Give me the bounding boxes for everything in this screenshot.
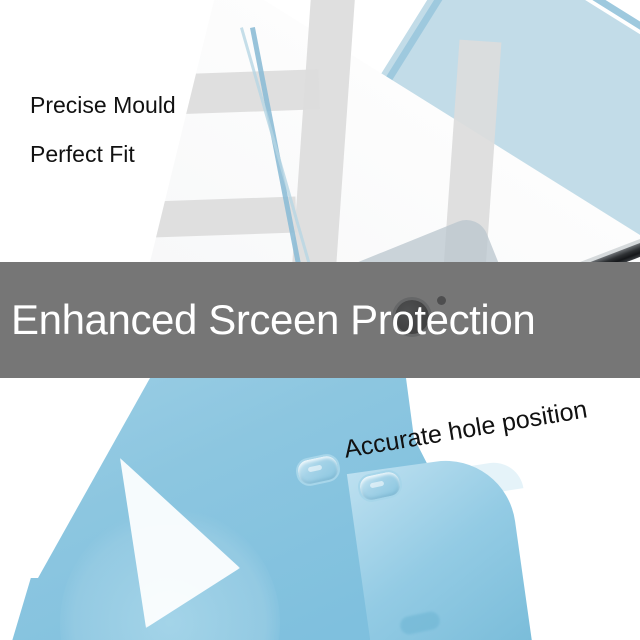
banner-headline: Enhanced Srceen Protection — [0, 299, 535, 341]
top-product-photo — [0, 0, 640, 262]
feature-banner: Enhanced Srceen Protection — [0, 262, 640, 378]
product-image-canvas: Precise Mould Perfect Fit Enhanced Srcee… — [0, 0, 640, 640]
headline-perfect-fit: Perfect Fit — [30, 141, 135, 168]
headline-precise-mould: Precise Mould — [30, 92, 176, 119]
